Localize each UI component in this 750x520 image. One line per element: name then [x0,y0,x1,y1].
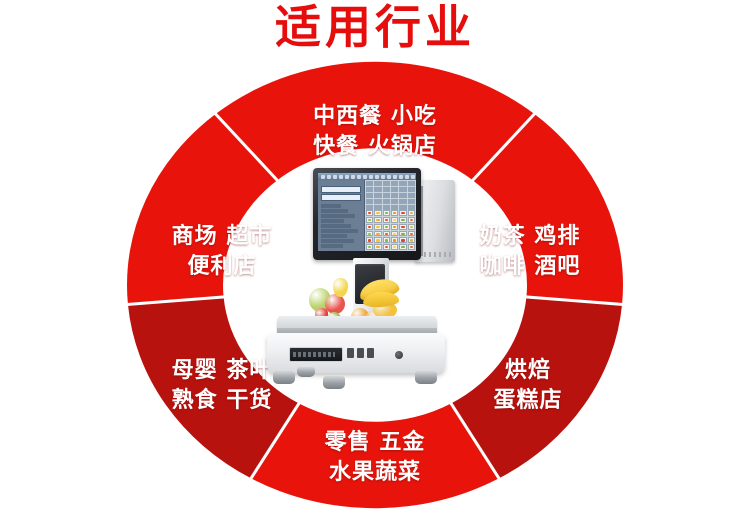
pos-product-button[interactable] [366,237,373,243]
pos-product-button[interactable] [383,231,390,237]
pos-product-button[interactable] [374,210,381,216]
pos-product-button[interactable] [408,244,415,250]
pos-software-screen [318,173,416,251]
pos-product-button[interactable] [391,210,398,216]
weight-lcd-display [289,347,343,362]
pos-product-button[interactable] [399,237,406,243]
pos-product-button[interactable] [374,217,381,223]
pos-product-button[interactable] [374,244,381,250]
segment-line2: 快餐 火锅店 [290,132,460,162]
pos-product-button[interactable] [408,210,415,216]
pos-product-button[interactable] [383,224,390,230]
segment-line1: 奶茶 鸡排 [480,224,581,249]
segment-label-beverage: 奶茶 鸡排 咖啡 酒吧 [445,222,615,282]
scale-port [395,351,403,359]
pos-product-button[interactable] [366,231,373,237]
pos-product-button[interactable] [374,224,381,230]
pos-product-button[interactable] [391,217,398,223]
segment-label-food-service: 中西餐 小吃 快餐 火锅店 [290,102,460,162]
pos-product-button[interactable] [374,237,381,243]
scale-foot-rear-left [297,367,315,377]
pos-product-button[interactable] [366,217,373,223]
pos-product-button[interactable] [399,217,406,223]
pos-product-button[interactable] [399,224,406,230]
pos-product-button[interactable] [383,210,390,216]
scale-key-3[interactable] [367,348,374,358]
pos-product-button[interactable] [366,244,373,250]
pos-scale-terminal [255,168,470,403]
segment-line2: 咖啡 酒吧 [445,252,615,282]
pear-icon [333,278,348,297]
pos-transaction-panel [318,180,365,251]
pos-product-button[interactable] [383,237,390,243]
pos-product-button[interactable] [366,210,373,216]
pos-product-button[interactable] [408,237,415,243]
poster-canvas: 适用行业 中西餐 小吃 快餐 火锅店 奶茶 鸡排 咖啡 酒吧 烘焙 蛋糕店 零售… [0,0,750,520]
pos-product-button[interactable] [383,217,390,223]
pos-workspace [318,180,416,251]
pos-product-button[interactable] [408,231,415,237]
pos-product-button[interactable] [399,210,406,216]
scale-foot-front-left [273,371,295,384]
segment-line1: 零售 五金 [325,430,426,455]
pos-product-button[interactable] [383,244,390,250]
segment-label-retail: 零售 五金 水果蔬菜 [290,428,460,488]
pos-numeric-keypad [366,181,415,207]
pos-product-button[interactable] [391,244,398,250]
segment-line1: 中西餐 小吃 [313,104,437,129]
scale-foot-front-center [323,376,345,389]
apple-icon [325,294,345,314]
segment-line1: 烘焙 [505,358,551,383]
segment-line2: 水果蔬菜 [290,458,460,488]
pos-product-button-grid [366,210,415,250]
pos-product-button[interactable] [399,244,406,250]
pos-product-button[interactable] [391,231,398,237]
pos-product-button[interactable] [399,231,406,237]
scale-key-1[interactable] [347,348,354,358]
pos-product-button[interactable] [408,217,415,223]
scale-foot-front-right [415,371,437,384]
pos-product-button[interactable] [391,224,398,230]
printer-vent [424,252,452,257]
pos-product-button[interactable] [374,231,381,237]
pos-keys-panel [365,180,416,251]
touchscreen-monitor [313,168,421,260]
scale-key-2[interactable] [357,348,364,358]
scale-body [267,333,445,373]
pos-product-button[interactable] [408,224,415,230]
label-printer-module [415,180,455,262]
pos-product-button[interactable] [366,224,373,230]
pos-product-button[interactable] [391,237,398,243]
